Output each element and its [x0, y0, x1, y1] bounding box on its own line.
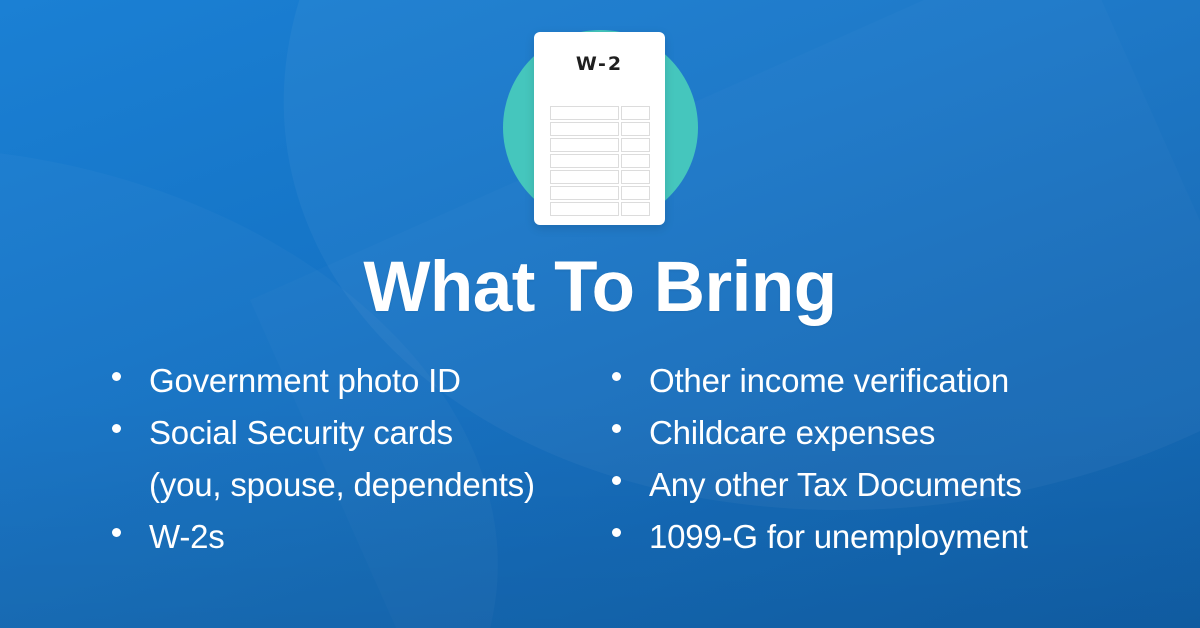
document-table-cell	[621, 138, 650, 152]
document-table-cell	[621, 202, 650, 216]
bullet-dot-icon	[112, 528, 121, 537]
list-item: Government photo ID	[112, 355, 600, 407]
page-title: What To Bring	[0, 244, 1200, 332]
document-table-cell	[550, 186, 619, 200]
document-table-row	[550, 122, 650, 136]
bullet-dot-icon	[112, 424, 121, 433]
document-table-row	[550, 202, 650, 216]
document-table-cell	[550, 106, 619, 120]
document-table-cell	[550, 138, 619, 152]
document-table-cell	[621, 106, 650, 120]
list-item-continuation: (you, spouse, dependents)	[112, 459, 600, 511]
list-item-label: Other income verification	[649, 355, 1009, 407]
document-table-row	[550, 138, 650, 152]
document-table-cell	[621, 170, 650, 184]
indent-spacer	[112, 459, 149, 511]
document-table-cell	[550, 170, 619, 184]
list-item-label: W-2s	[149, 511, 225, 563]
list-item-label: 1099-G for unemployment	[649, 511, 1028, 563]
list-item: Social Security cards	[112, 407, 600, 459]
bullet-dot-icon	[612, 424, 621, 433]
document-table	[550, 106, 650, 218]
document-table-row	[550, 154, 650, 168]
document-table-row	[550, 186, 650, 200]
document-table-row	[550, 170, 650, 184]
what-to-bring-banner: W-2 What To Bring Government photo ID So…	[0, 0, 1200, 628]
list-item: Other income verification	[612, 355, 1200, 407]
list-item: W-2s	[112, 511, 600, 563]
checklist-column-left: Government photo ID Social Security card…	[0, 355, 600, 563]
document-label: W-2	[534, 53, 665, 75]
checklist: Government photo ID Social Security card…	[0, 355, 1200, 563]
list-item: Childcare expenses	[612, 407, 1200, 459]
list-item-label: Any other Tax Documents	[649, 459, 1022, 511]
document-table-cell	[621, 154, 650, 168]
bullet-dot-icon	[112, 372, 121, 381]
document-table-cell	[621, 186, 650, 200]
list-item-label: Childcare expenses	[649, 407, 935, 459]
list-item-label: Government photo ID	[149, 355, 461, 407]
document-table-cell	[550, 202, 619, 216]
document-table-cell	[621, 122, 650, 136]
document-table-row	[550, 106, 650, 120]
bullet-dot-icon	[612, 476, 621, 485]
bullet-dot-icon	[612, 528, 621, 537]
checklist-column-right: Other income verification Childcare expe…	[600, 355, 1200, 563]
list-item-label: Social Security cards	[149, 407, 453, 459]
list-item: Any other Tax Documents	[612, 459, 1200, 511]
list-item-sublabel: (you, spouse, dependents)	[149, 459, 535, 511]
w2-document-icon: W-2	[534, 32, 665, 225]
bullet-dot-icon	[612, 372, 621, 381]
document-table-cell	[550, 154, 619, 168]
hero-illustration: W-2	[0, 0, 1200, 232]
list-item: 1099-G for unemployment	[612, 511, 1200, 563]
document-table-cell	[550, 122, 619, 136]
